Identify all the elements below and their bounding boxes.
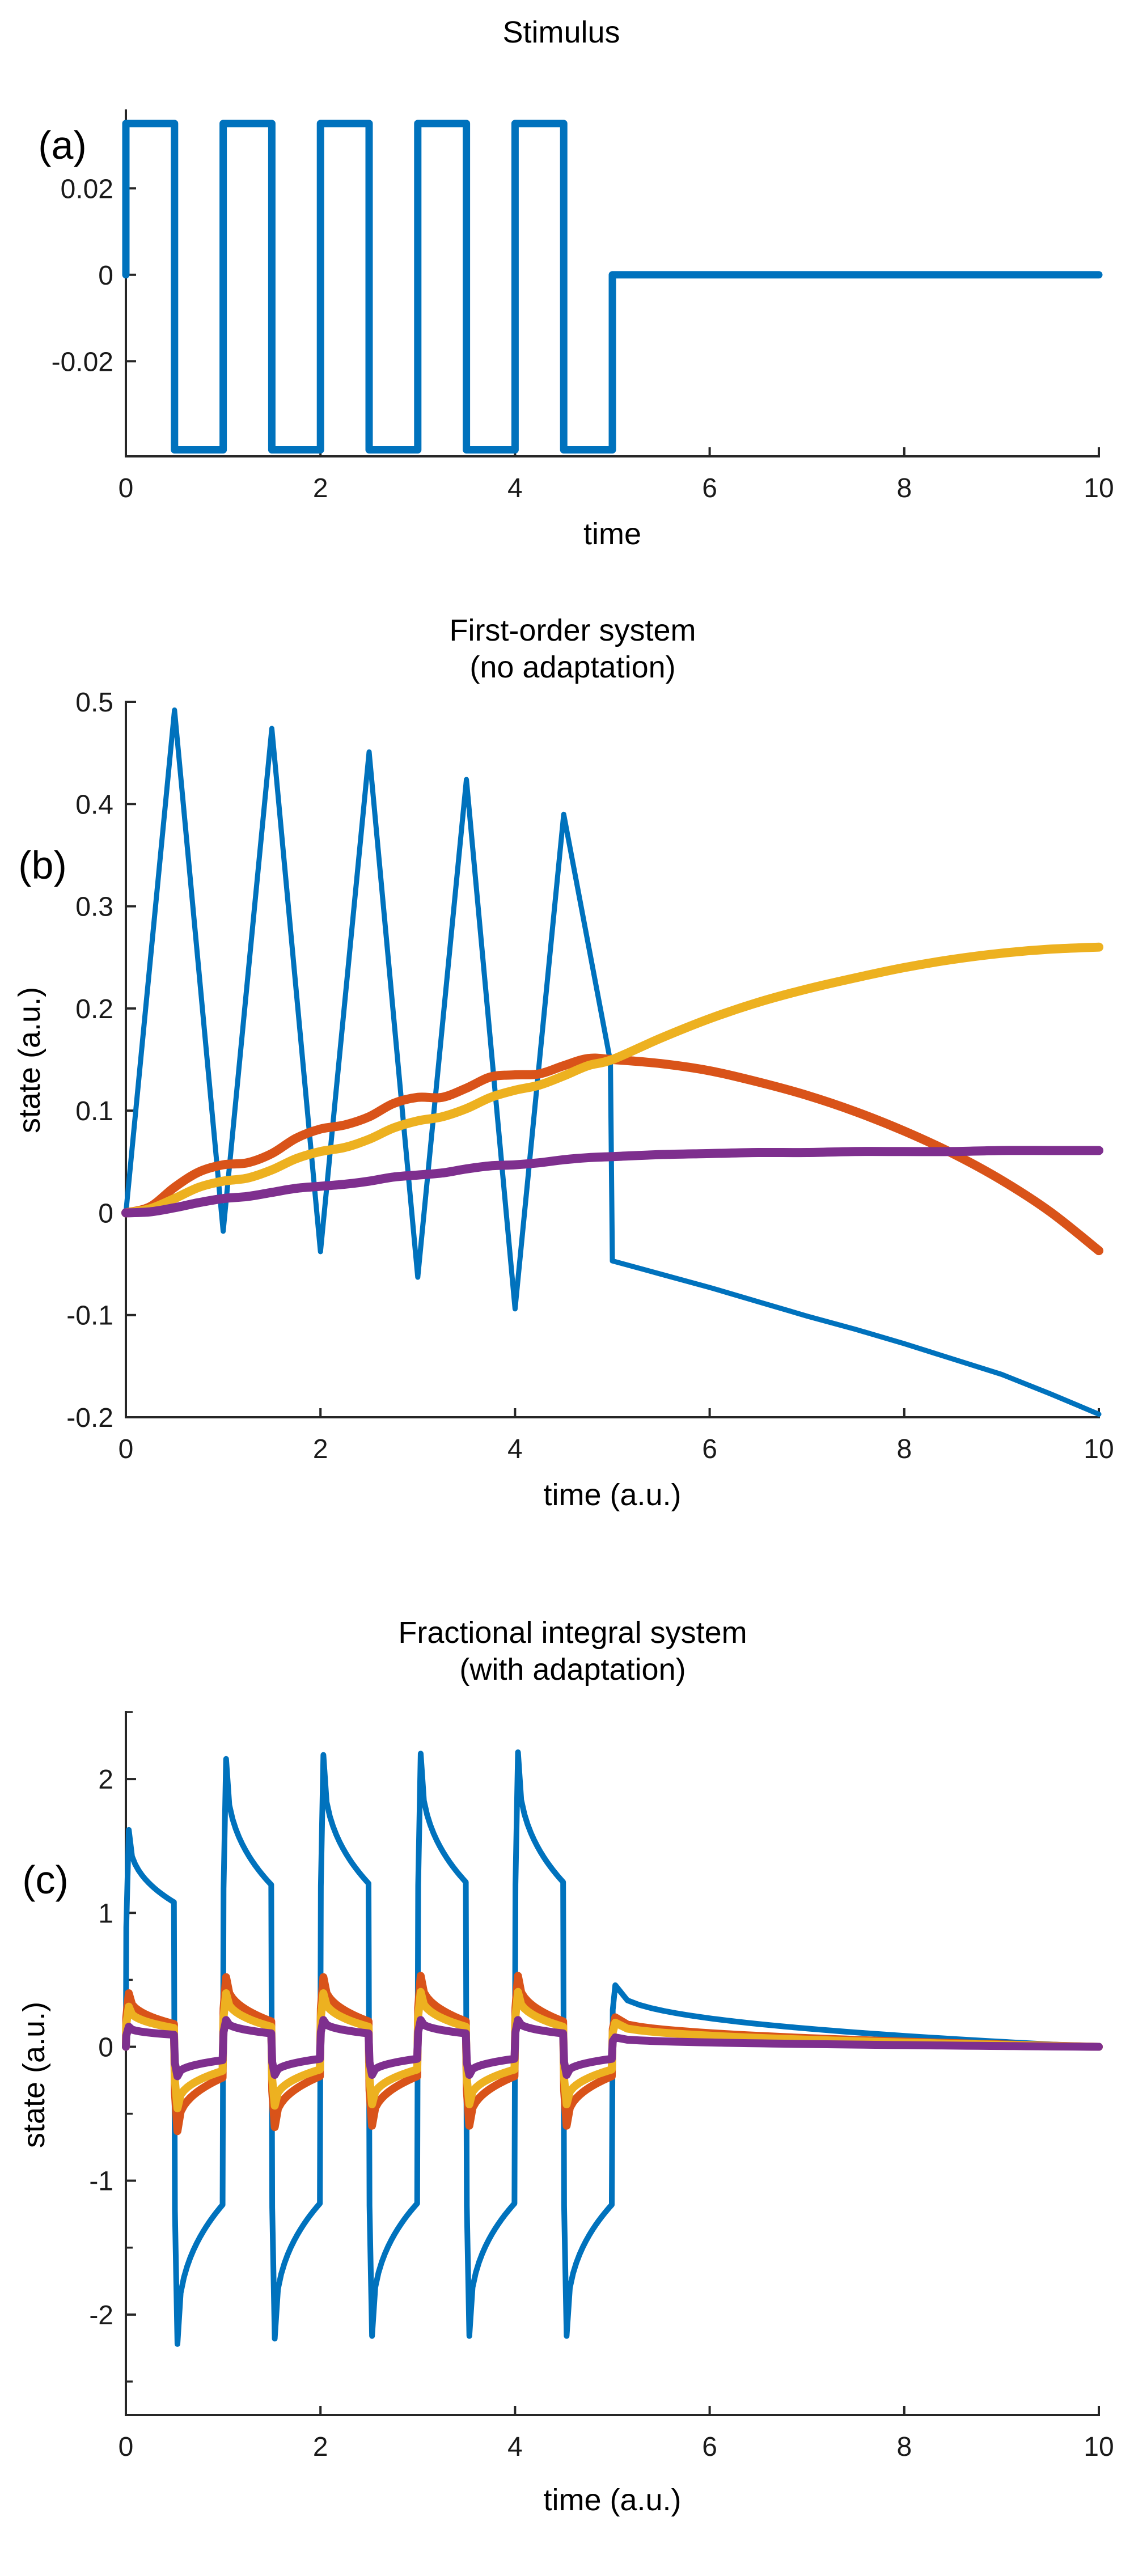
panel-b-first-order-system: First-order system(no adaptation)(b)0246…	[0, 578, 1134, 1576]
x-tick-label: 6	[702, 1434, 717, 1464]
y-tick-label: 0.02	[61, 174, 113, 204]
x-tick-label: 4	[507, 473, 523, 503]
series-stimulus	[126, 124, 1099, 450]
x-tick-label: 6	[702, 2432, 717, 2462]
x-tick-label: 4	[507, 2432, 523, 2462]
panel-c-title: Fractional integral system	[398, 1616, 747, 1650]
panel-b-subtitle: (no adaptation)	[469, 650, 675, 684]
figure-container: Stimulus(a)02468100.020-0.02time First-o…	[0, 0, 1134, 2576]
panel-c-subtitle: (with adaptation)	[459, 1653, 686, 1687]
x-tick-label: 10	[1084, 473, 1114, 503]
y-tick-label: 0.3	[75, 892, 113, 922]
x-tick-label: 6	[702, 473, 717, 503]
x-tick-label: 8	[896, 473, 912, 503]
panel-c-fractional-integral-system: Fractional integral system(with adaptati…	[0, 1576, 1134, 2576]
panel-a-xlabel: time	[583, 517, 641, 551]
panel-c-letter: (c)	[22, 1858, 69, 1902]
y-tick-label: 0.5	[75, 688, 113, 718]
y-tick-label: -0.1	[66, 1301, 113, 1331]
panel-b-xlabel: time (a.u.)	[543, 1478, 681, 1512]
y-tick-label: 0.2	[75, 994, 113, 1024]
x-tick-label: 4	[507, 1434, 523, 1464]
x-tick-label: 8	[896, 1434, 912, 1464]
panel-a-title: Stimulus	[502, 15, 620, 49]
x-tick-label: 0	[119, 473, 134, 503]
panel-c-xlabel: time (a.u.)	[543, 2483, 681, 2517]
panel-b-plot: First-order system(no adaptation)(b)0246…	[0, 578, 1134, 1576]
x-tick-label: 2	[313, 2432, 328, 2462]
panel-c-ylabel: state (a.u.)	[17, 2002, 51, 2148]
y-tick-label: -1	[89, 2167, 113, 2197]
x-tick-label: 10	[1084, 1434, 1114, 1464]
x-tick-label: 2	[313, 473, 328, 503]
panel-b-ylabel: state (a.u.)	[12, 987, 46, 1133]
x-tick-label: 0	[119, 2432, 134, 2462]
panel-b-title: First-order system	[449, 613, 696, 647]
y-tick-label: 2	[98, 1765, 113, 1795]
y-tick-label: 0	[98, 261, 113, 291]
y-tick-label: 0	[98, 1198, 113, 1228]
x-tick-label: 10	[1084, 2432, 1114, 2462]
x-tick-label: 0	[119, 1434, 134, 1464]
y-tick-label: 0	[98, 2032, 113, 2062]
y-tick-label: -0.2	[66, 1403, 113, 1433]
panel-a-letter: (a)	[38, 123, 87, 167]
y-tick-label: 0.4	[75, 790, 113, 820]
panel-a-stimulus: Stimulus(a)02468100.020-0.02time	[0, 0, 1134, 578]
panel-a-plot: Stimulus(a)02468100.020-0.02time	[0, 0, 1134, 578]
y-tick-label: -2	[89, 2300, 113, 2331]
x-tick-label: 2	[313, 1434, 328, 1464]
y-tick-label: -0.02	[52, 347, 113, 377]
y-tick-label: 0.1	[75, 1096, 113, 1126]
x-tick-label: 8	[896, 2432, 912, 2462]
y-tick-label: 1	[98, 1899, 113, 1929]
panel-b-letter: (b)	[18, 843, 67, 887]
panel-c-plot: Fractional integral system(with adaptati…	[0, 1576, 1134, 2576]
